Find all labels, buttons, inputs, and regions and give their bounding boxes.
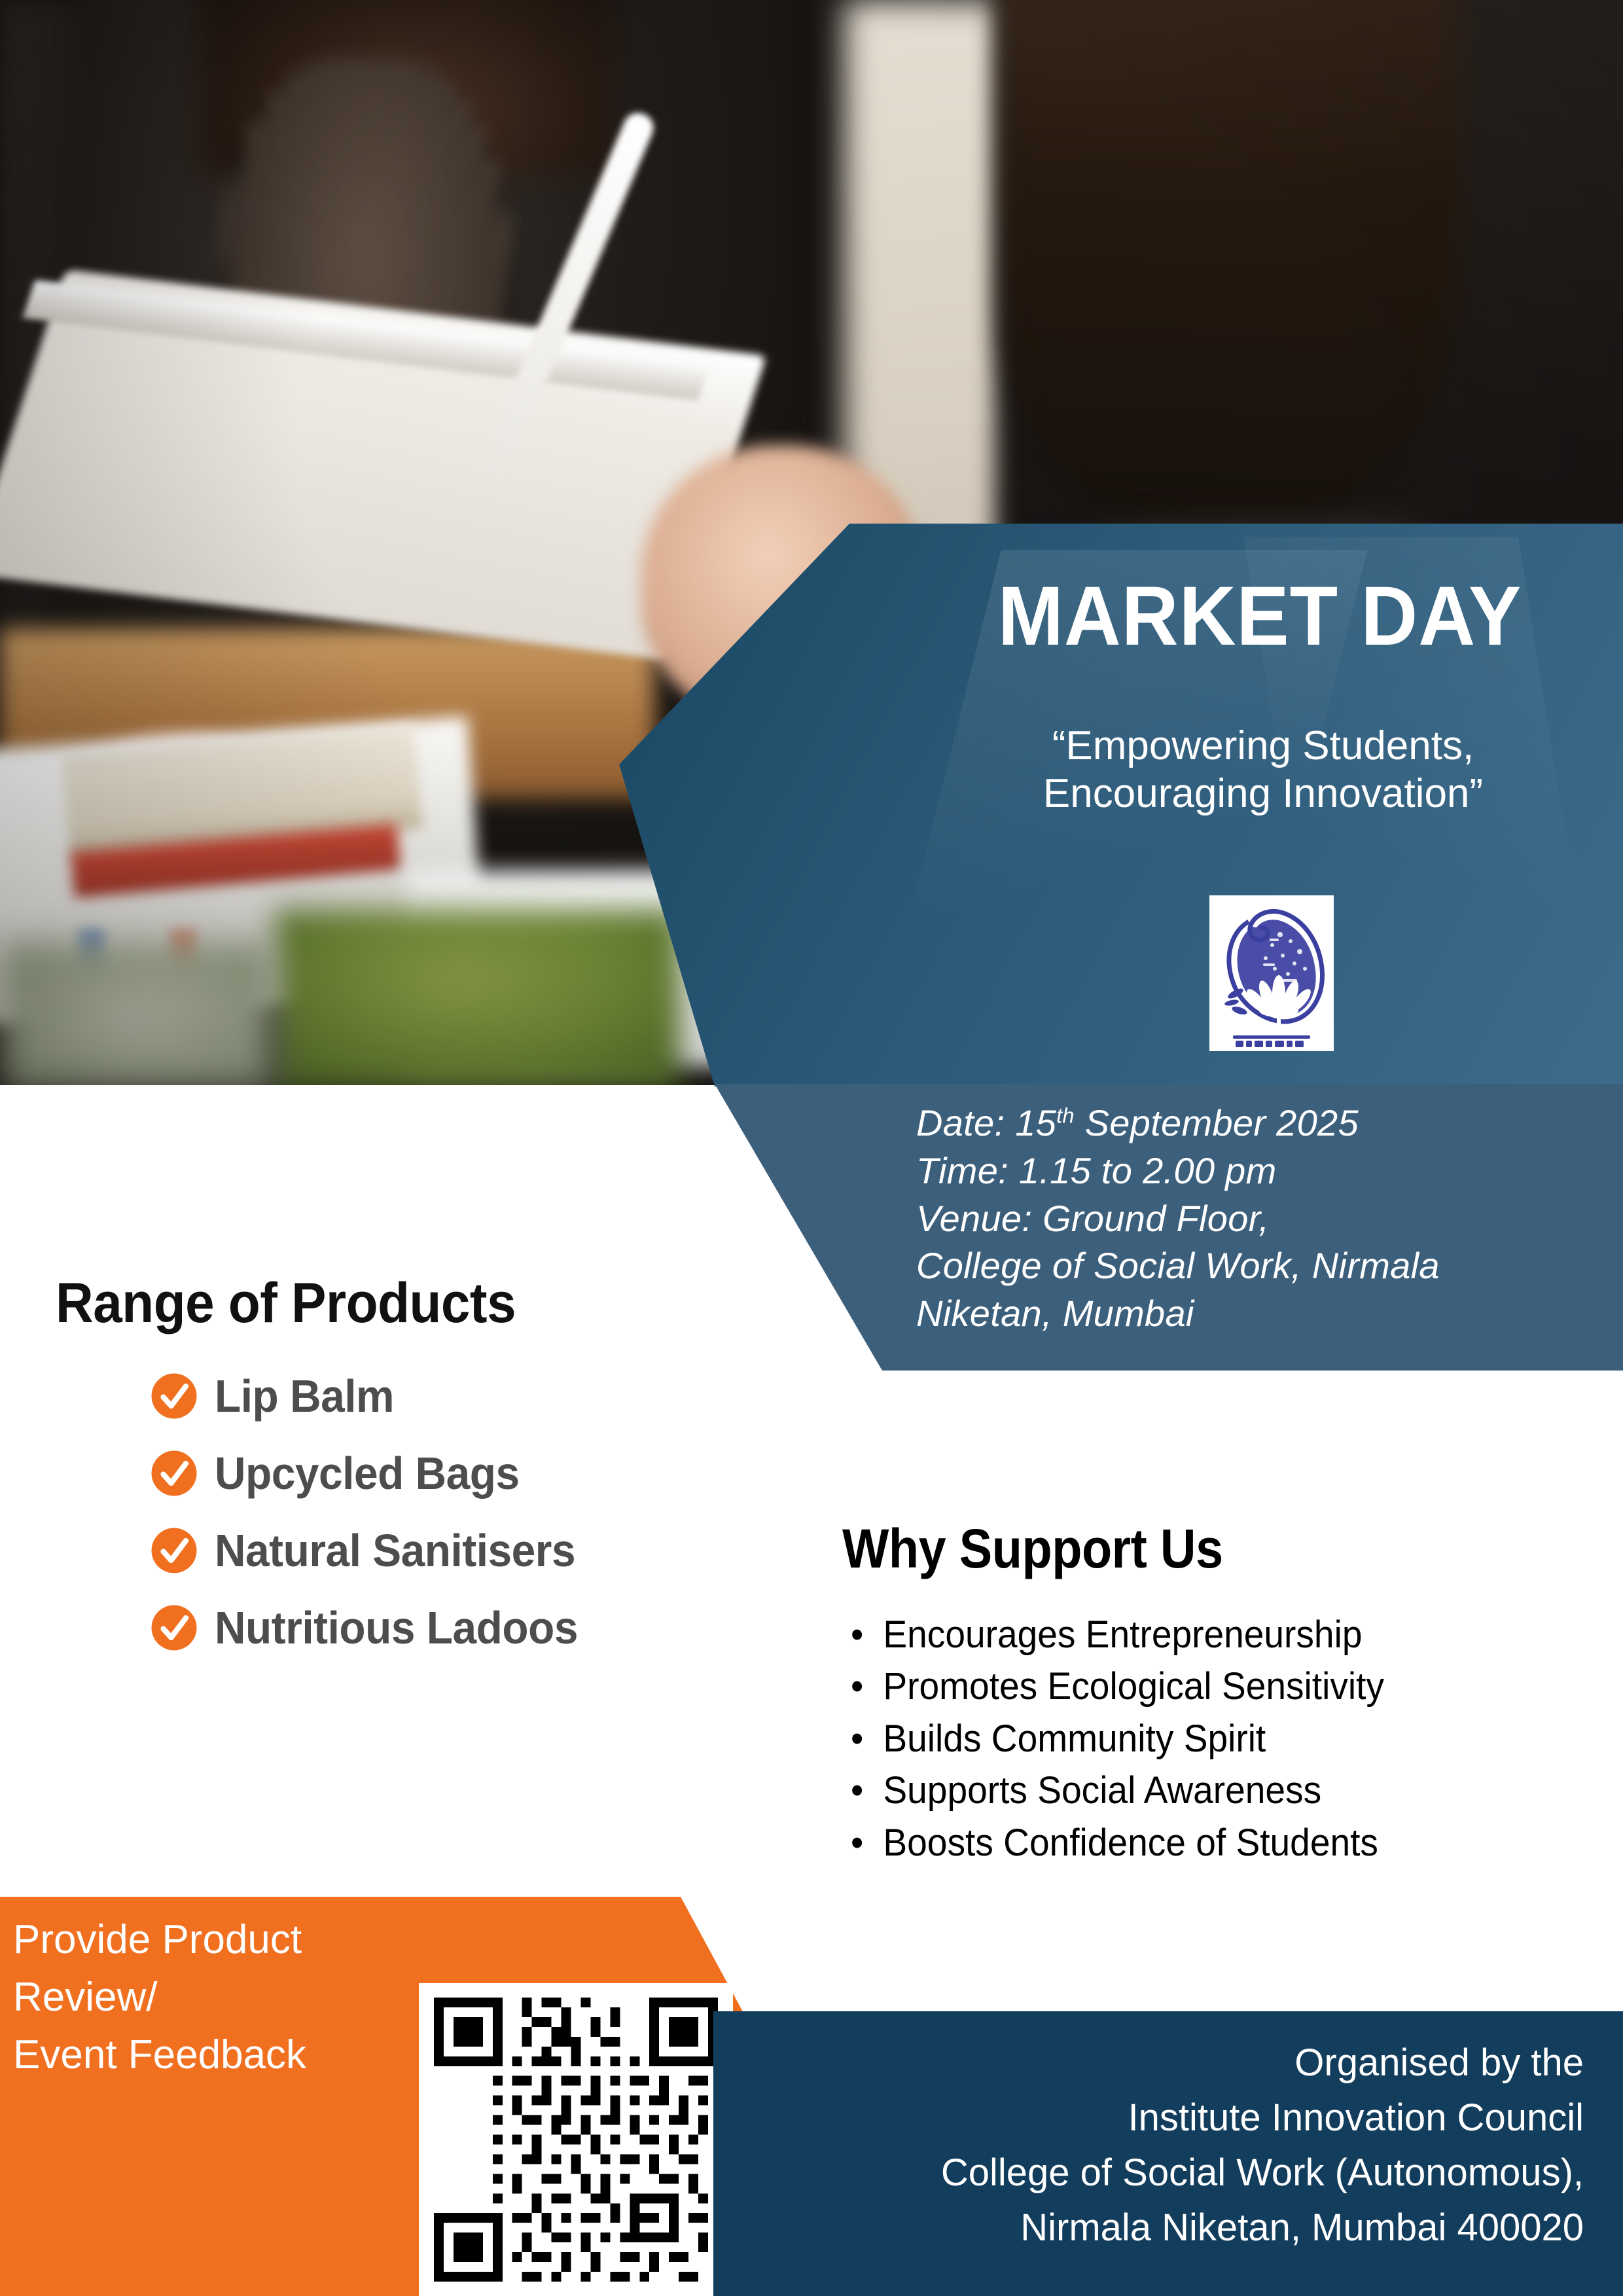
organiser-text: Organised by the Institute Innovation Co… [740,2036,1603,2255]
feedback-line-1: Provide Product Review/ [13,1911,445,2026]
page-title: MARKET DAY [949,568,1570,664]
event-venue-line-1: Venue: Ground Floor, [916,1195,1610,1243]
check-circle-icon [151,1604,198,1651]
support-reason-item: Encourages Entrepreneurship [851,1609,1572,1660]
product-item-upcycled-bags: Upcycled Bags [151,1445,870,1501]
organiser-line-2: Institute Innovation Council [740,2090,1584,2145]
product-label: Upcycled Bags [215,1447,520,1499]
products-heading: Range of Products [56,1271,695,1336]
product-label: Natural Sanitisers [215,1524,575,1577]
product-item-lip-balm: Lip Balm [151,1368,870,1424]
support-reason-item: Promotes Ecological Sensitivity [851,1660,1572,1712]
product-label: Lip Balm [215,1370,394,1422]
event-date-month-year: September 2025 [1075,1102,1359,1143]
qr-code-image[interactable] [433,1998,719,2282]
check-circle-icon [151,1527,198,1574]
tagline: “Empowering Students, Encouraging Innova… [916,723,1610,817]
institution-logo [1209,895,1334,1051]
product-item-natural-sanitisers: Natural Sanitisers [151,1522,870,1579]
event-date-value: 15 [1015,1102,1056,1143]
event-venue-line-2: College of Social Work, Nirmala [916,1242,1610,1290]
product-item-nutritious-ladoos: Nutritious Ladoos [151,1600,870,1656]
check-circle-icon [151,1450,198,1497]
products-list: Lip Balm Upcycled Bags Natural Sanitiser… [151,1368,870,1677]
product-label: Nutritious Ladoos [215,1602,578,1654]
event-time-line: Time: 1.15 to 2.00 pm [916,1147,1610,1195]
support-reason-item: Supports Social Awareness [851,1765,1572,1816]
event-venue-line-3: Niketan, Mumbai [916,1290,1610,1338]
nirmala-niketan-lotus-logo [1209,895,1334,1051]
event-date-ordinal: th [1056,1103,1075,1127]
support-reason-item: Builds Community Spirit [851,1713,1572,1765]
event-date-line: Date: 15th September 2025 [916,1100,1610,1147]
organiser-line-1: Organised by the [740,2036,1584,2090]
tagline-line-1: “Empowering Students, [916,723,1610,770]
check-circle-icon [151,1372,198,1420]
event-details-text: Date: 15th September 2025 Time: 1.15 to … [916,1100,1610,1338]
support-reason-item: Boosts Confidence of Students [851,1817,1572,1869]
tagline-line-2: Encouraging Innovation” [916,770,1610,818]
event-date-label: Date: [916,1102,1005,1143]
organiser-line-3: College of Social Work (Autonomous), [740,2145,1584,2200]
support-reasons-list: Encourages Entrepreneurship Promotes Eco… [851,1609,1610,1869]
organiser-line-4: Nirmala Niketan, Mumbai 400020 [740,2200,1584,2255]
feedback-text: Provide Product Review/ Event Feedback [13,1911,445,2084]
support-heading: Why Support Us [842,1517,1490,1581]
feedback-qr-code[interactable] [419,1983,733,2296]
feedback-line-2: Event Feedback [13,2026,445,2084]
